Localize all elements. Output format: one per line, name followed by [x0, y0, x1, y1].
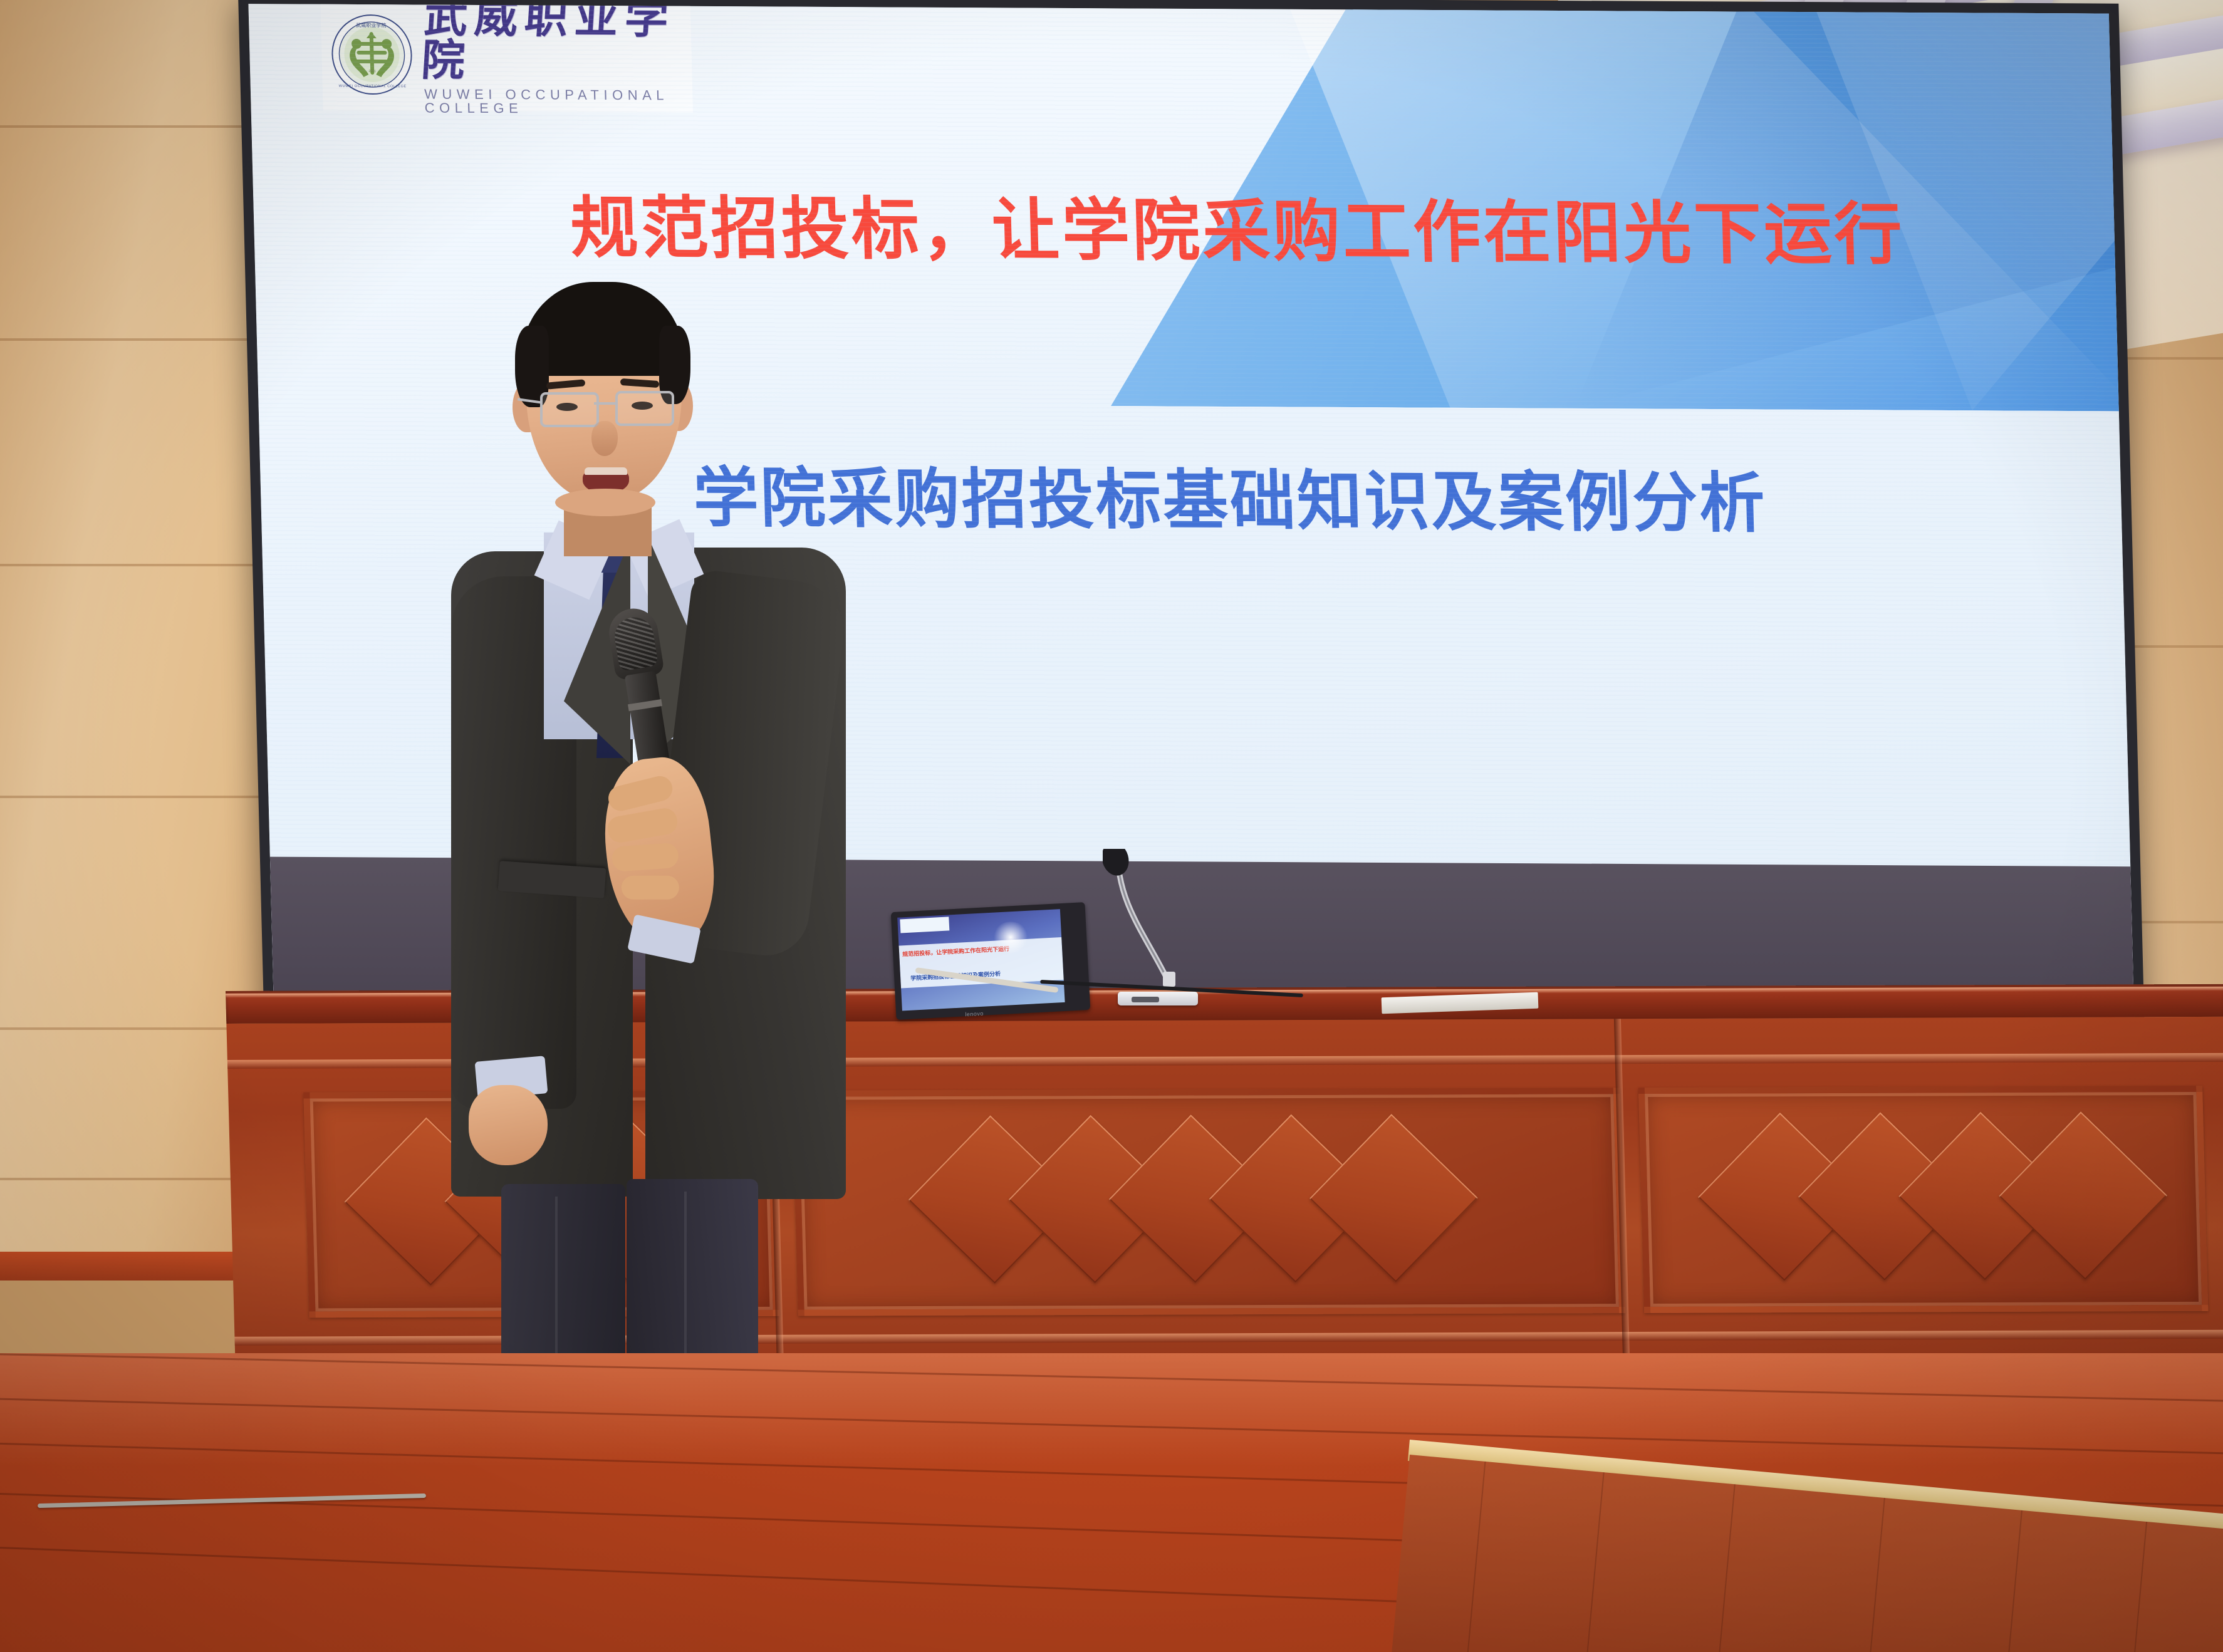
nose	[591, 421, 618, 456]
podium-panel	[1638, 1086, 2209, 1313]
lecture-hall-scene: 武威职业学院 WUWEI OCCUPATIONAL COLLEGE 2001 武…	[0, 0, 2223, 1652]
laptop: 规范招投标，让学院采购工作在阳光下运行 学院采购招投标基础知识及案例分析 len…	[891, 902, 1091, 1020]
laptop-screen: 规范招投标，让学院采购工作在阳光下运行 学院采购招投标基础知识及案例分析	[897, 909, 1065, 1010]
chin	[555, 489, 655, 516]
microphone-button[interactable]	[1132, 997, 1159, 1002]
laptop-brand-label: lenovo	[965, 1010, 984, 1018]
podium-panel	[792, 1088, 1625, 1316]
eyeglasses-bridge	[594, 402, 615, 405]
left-hand	[469, 1085, 548, 1165]
teeth	[585, 467, 627, 475]
eyeglasses-lens-right	[615, 391, 674, 426]
eyeglasses-lens-left	[540, 392, 599, 427]
gooseneck-microphone	[1103, 849, 1209, 1005]
